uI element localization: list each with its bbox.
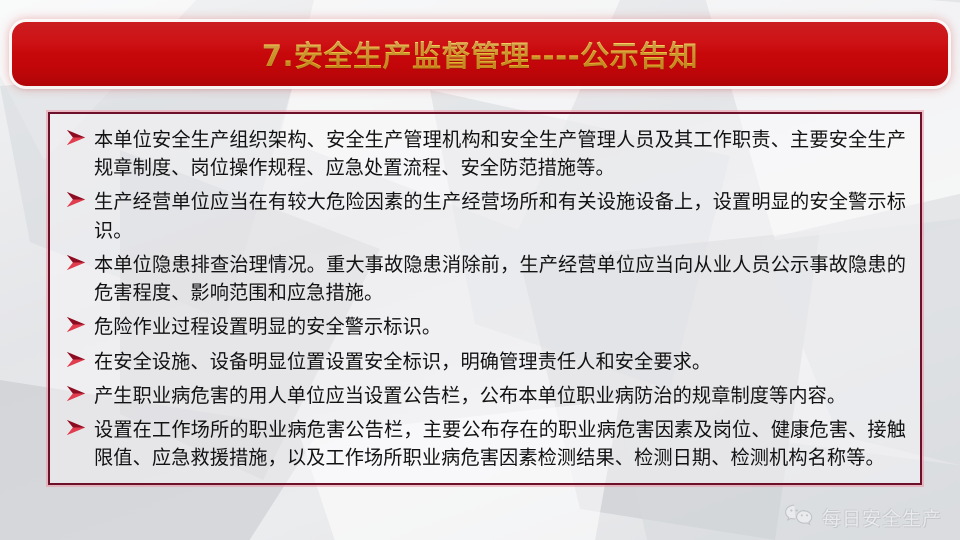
slide-title-bar: 7.安全生产监督管理----公示告知	[12, 22, 948, 86]
list-item: 产生职业病危害的用人单位应当设置公告栏，公布本单位职业病防治的规章制度等内容。	[60, 382, 906, 410]
bullet-text: 本单位隐患排查治理情况。重大事故隐患消除前，生产经营单位应当向从业人员公示事故隐…	[94, 251, 906, 307]
list-item: 设置在工作场所的职业病危害公告栏，主要公布存在的职业病危害因素及岗位、健康危害、…	[60, 416, 906, 472]
bullet-list: 本单位安全生产组织架构、安全生产管理机构和安全生产管理人员及其工作职责、主要安全…	[60, 126, 906, 472]
list-item: 在安全设施、设备明显位置设置安全标识，明确管理责任人和安全要求。	[60, 348, 906, 376]
arrow-bullet-icon	[60, 251, 94, 271]
arrow-bullet-icon	[60, 188, 94, 208]
watermark-label: 每日安全生产	[822, 504, 942, 531]
arrow-bullet-icon	[60, 416, 94, 436]
bullet-text: 生产经营单位应当在有较大危险因素的生产经营场所和有关设施设备上，设置明显的安全警…	[94, 188, 906, 244]
page-title: 7.安全生产监督管理----公示告知	[262, 33, 698, 75]
bullet-text: 本单位安全生产组织架构、安全生产管理机构和安全生产管理人员及其工作职责、主要安全…	[94, 126, 906, 182]
arrow-bullet-icon	[60, 348, 94, 368]
slide-root: 7.安全生产监督管理----公示告知 本单位安全生产组织架构、安全生产管理机构和…	[0, 0, 960, 540]
wechat-icon	[784, 503, 814, 532]
bullet-text: 设置在工作场所的职业病危害公告栏，主要公布存在的职业病危害因素及岗位、健康危害、…	[94, 416, 906, 472]
content-box: 本单位安全生产组织架构、安全生产管理机构和安全生产管理人员及其工作职责、主要安全…	[48, 112, 922, 485]
arrow-bullet-icon	[60, 382, 94, 402]
list-item: 本单位隐患排查治理情况。重大事故隐患消除前，生产经营单位应当向从业人员公示事故隐…	[60, 251, 906, 307]
bullet-text: 在安全设施、设备明显位置设置安全标识，明确管理责任人和安全要求。	[94, 348, 906, 376]
arrow-bullet-icon	[60, 313, 94, 333]
list-item: 危险作业过程设置明显的安全警示标识。	[60, 313, 906, 341]
list-item: 本单位安全生产组织架构、安全生产管理机构和安全生产管理人员及其工作职责、主要安全…	[60, 126, 906, 182]
arrow-bullet-icon	[60, 126, 94, 146]
bullet-text: 产生职业病危害的用人单位应当设置公告栏，公布本单位职业病防治的规章制度等内容。	[94, 382, 906, 410]
watermark: 每日安全生产	[784, 503, 942, 532]
list-item: 生产经营单位应当在有较大危险因素的生产经营场所和有关设施设备上，设置明显的安全警…	[60, 188, 906, 244]
bullet-text: 危险作业过程设置明显的安全警示标识。	[94, 313, 906, 341]
